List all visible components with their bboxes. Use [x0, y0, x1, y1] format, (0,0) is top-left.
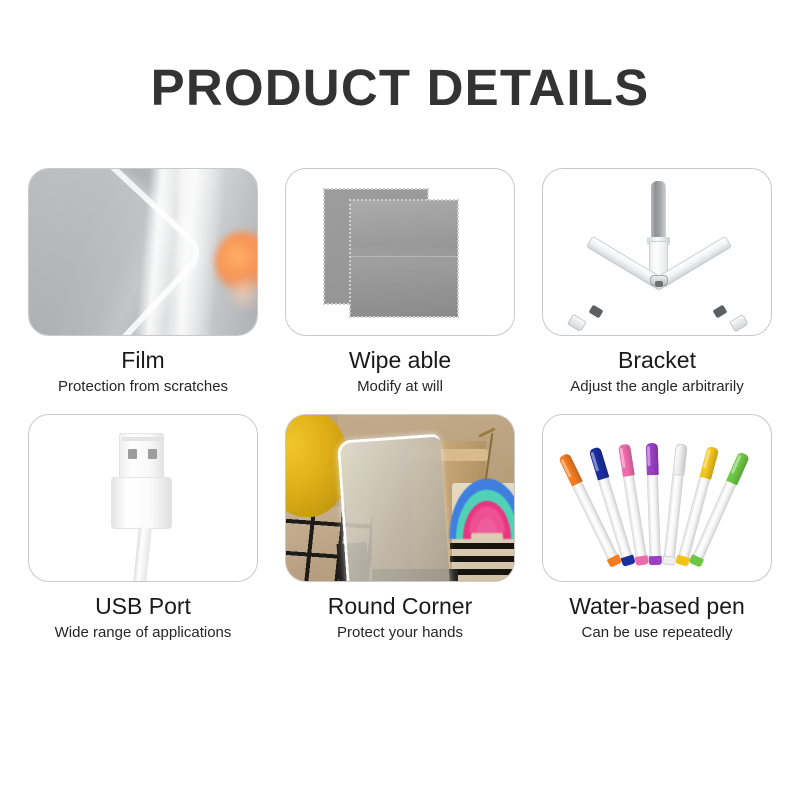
usb-connector-seam	[122, 437, 161, 441]
marker-barrel	[646, 471, 660, 558]
marker-tail-pink	[634, 555, 648, 566]
feature-card-wipe-able: Wipe able Modify at will	[285, 168, 515, 396]
card-subtitle-bracket: Adjust the angle arbitrarily	[542, 377, 772, 396]
feature-card-bracket: Bracket Adjust the angle arbitrarily	[542, 168, 772, 396]
bracket-right-tip-icon	[729, 314, 749, 333]
marker-cap-green	[725, 451, 749, 485]
marker-tail-yellow	[675, 555, 690, 567]
bracket-left-tip-icon	[567, 314, 587, 333]
film-thumbnail	[28, 168, 258, 336]
marker-cap-pink	[617, 444, 634, 477]
marker-pen-fan	[543, 415, 771, 581]
usb-connector-housing-icon	[111, 477, 172, 529]
bracket-post-icon	[651, 181, 666, 243]
marker-cap-purple	[645, 443, 658, 475]
bracket-hinge-pin-icon	[655, 281, 663, 287]
room-photo-base	[286, 415, 514, 581]
card-subtitle-round-corner: Protect your hands	[285, 623, 515, 642]
card-subtitle-wipe-able: Modify at will	[285, 377, 515, 396]
card-subtitle-film: Protection from scratches	[28, 377, 258, 396]
marker-cap-white	[671, 443, 686, 476]
marker-cap-yellow	[698, 446, 718, 480]
card-title-bracket: Bracket	[542, 347, 772, 374]
page-title: PRODUCT DETAILS	[0, 57, 800, 119]
bracket-right-foot-pad-icon	[713, 305, 728, 319]
usb-contact-left-icon	[128, 449, 137, 459]
feature-card-water-based-pen: Water-based pen Can be use repeatedly	[542, 414, 772, 642]
bracket-left-foot-pad-icon	[589, 305, 604, 319]
bracket-thumbnail	[542, 168, 772, 336]
panel-dark-stripes	[450, 543, 515, 582]
card-title-water-based-pen: Water-based pen	[542, 593, 772, 620]
round-corner-thumbnail	[285, 414, 515, 582]
warm-highlight-blob-secondary-icon	[227, 273, 258, 313]
card-subtitle-usb-port: Wide range of applications	[28, 623, 258, 642]
usb-cable-icon	[133, 526, 152, 582]
film-peel-band	[134, 168, 226, 336]
card-title-film: Film	[28, 347, 258, 374]
card-title-round-corner: Round Corner	[285, 593, 515, 620]
product-details-infographic: PRODUCT DETAILS Film Protection from scr…	[0, 0, 800, 800]
card-subtitle-water-based-pen: Can be use repeatedly	[542, 623, 772, 642]
led-board-rounded-corner	[337, 434, 450, 582]
card-title-wipe-able: Wipe able	[285, 347, 515, 374]
marker-cap-navy-blue	[588, 447, 609, 481]
marker-pen-purple	[645, 443, 660, 565]
marker-tail-purple	[648, 556, 661, 565]
marker-cap-orange	[557, 453, 582, 487]
cloth-fold-line	[350, 256, 458, 257]
feature-card-round-corner: Round Corner Protect your hands	[285, 414, 515, 642]
water-based-pen-thumbnail	[542, 414, 772, 582]
wipe-able-thumbnail	[285, 168, 515, 336]
feature-card-film: Film Protection from scratches	[28, 168, 258, 396]
feature-card-grid: Film Protection from scratches Wipe able…	[28, 168, 772, 642]
usb-port-thumbnail	[28, 414, 258, 582]
usb-contact-right-icon	[148, 449, 157, 459]
microfiber-cloth-front-icon	[350, 200, 458, 317]
marker-tail-white	[662, 555, 676, 565]
feature-card-usb-port: USB Port Wide range of applications	[28, 414, 258, 642]
card-title-usb-port: USB Port	[28, 593, 258, 620]
